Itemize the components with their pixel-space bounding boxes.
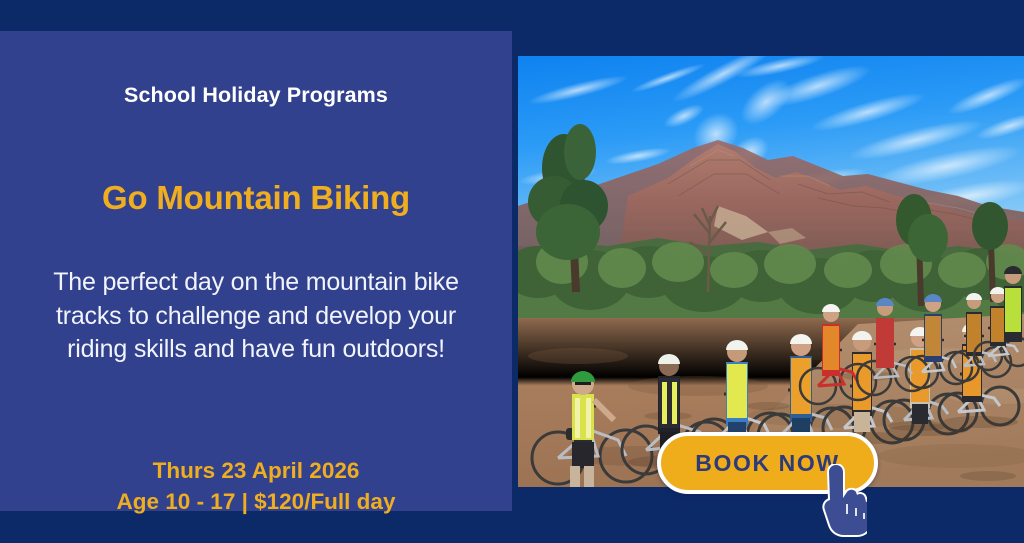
mountain-biking-photo [518,56,1024,487]
book-now-label: BOOK NOW [695,450,839,477]
promo-banner: School Holiday Programs Go Mountain Biki… [0,0,1024,543]
program-category-label: School Holiday Programs [0,83,512,108]
event-details: Thurs 23 April 2026 Age 10 - 17 | $120/F… [26,455,486,517]
page-title: Go Mountain Biking [0,179,512,217]
event-date: Thurs 23 April 2026 [26,455,486,486]
book-now-button[interactable]: BOOK NOW [657,432,878,494]
description-text: The perfect day on the mountain bike tra… [46,266,466,367]
event-age-price: Age 10 - 17 | $120/Full day [26,486,486,517]
text-panel: School Holiday Programs Go Mountain Biki… [0,31,512,511]
